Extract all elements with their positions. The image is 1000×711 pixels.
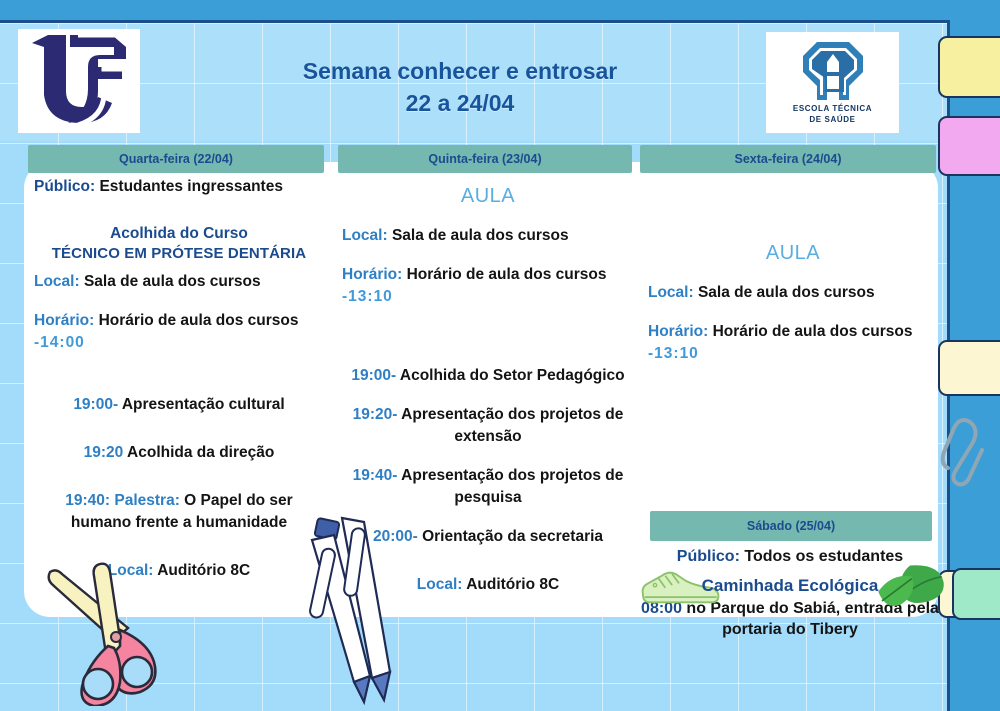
fri-horario: Horário: Horário de aula dos cursos -13:… xyxy=(648,321,938,365)
cream-tab[interactable] xyxy=(938,340,1000,396)
green-tab[interactable] xyxy=(952,568,1000,620)
wed-item-1-time: 19:20 xyxy=(84,444,124,461)
fri-local-value: Sala de aula dos cursos xyxy=(698,284,875,301)
wed-final-local: Local: Auditório 8C xyxy=(34,560,324,582)
wed-local-value: Sala de aula dos cursos xyxy=(84,273,261,290)
fri-local: Local: Sala de aula dos cursos xyxy=(648,282,938,304)
thu-final-local: Local: Auditório 8C xyxy=(342,574,634,596)
fri-horario-label: Horário: xyxy=(648,323,708,340)
poster-header: ESCOLA TÉCNICA DE SAÚDE Semana conhecer … xyxy=(0,20,947,140)
thu-item-0-text: Acolhida do Setor Pedagógico xyxy=(400,367,625,384)
thu-local-value: Sala de aula dos cursos xyxy=(392,227,569,244)
wed-item-1: 19:20 Acolhida da direção xyxy=(34,442,324,464)
thu-horario-value: Horário de aula dos cursos xyxy=(407,266,607,283)
wed-publico: Público: Estudantes ingressantes xyxy=(34,176,324,198)
sat-time: 08:00 xyxy=(641,600,682,617)
wed-final-local-value: Auditório 8C xyxy=(157,562,250,579)
thu-item-3-time: 20:00- xyxy=(373,528,418,545)
thu-item-1-text: Apresentação dos projetos de extensão xyxy=(401,406,623,445)
fri-aula: AULA xyxy=(648,242,938,265)
fri-horario-accent: -13:10 xyxy=(648,345,699,362)
thu-horario-label: Horário: xyxy=(342,266,402,283)
wed-item-0-time: 19:00- xyxy=(73,396,118,413)
ets-line2: DE SAÚDE xyxy=(809,115,855,124)
wed-item-2-time: 19:40: Palestra: xyxy=(65,492,180,509)
escola-tecnica-saude-logo: ESCOLA TÉCNICA DE SAÚDE xyxy=(766,32,899,133)
thu-item-0: 19:00- Acolhida do Setor Pedagógico xyxy=(342,365,634,387)
wed-final-local-label: Local: xyxy=(108,562,154,579)
wed-horario-value: Horário de aula dos cursos xyxy=(99,312,299,329)
sat-activity: Caminhada Ecológica xyxy=(640,576,940,596)
column-thursday: AULA Local: Sala de aula dos cursos Horá… xyxy=(342,176,634,596)
thu-item-1-time: 19:20- xyxy=(353,406,398,423)
poster-board: ESCOLA TÉCNICA DE SAÚDE Semana conhecer … xyxy=(0,0,1000,708)
column-saturday: Público: Todos os estudantes Caminhada E… xyxy=(640,548,940,640)
thu-final-local-value: Auditório 8C xyxy=(466,576,559,593)
sat-place-text: no Parque do Sabiá, entrada pela portari… xyxy=(686,600,939,638)
column-friday: AULA Local: Sala de aula dos cursos Horá… xyxy=(648,176,938,365)
thu-aula: AULA xyxy=(342,185,634,208)
thu-local-label: Local: xyxy=(342,227,388,244)
wed-item-2: 19:40: Palestra: O Papel do ser humano f… xyxy=(34,490,324,534)
sat-publico: Público: Todos os estudantes xyxy=(640,548,940,566)
pink-tab[interactable] xyxy=(938,116,1000,176)
sat-place: 08:00 no Parque do Sabiá, entrada pela p… xyxy=(640,598,940,640)
sat-publico-label: Público: xyxy=(677,548,740,565)
day-band-saturday: Sábado (25/04) xyxy=(650,511,932,541)
thu-final-local-label: Local: xyxy=(417,576,463,593)
thu-item-2-text: Apresentação dos projetos de pesquisa xyxy=(401,467,623,506)
column-wednesday: Público: Estudantes ingressantes Acolhid… xyxy=(34,176,324,582)
thu-item-1: 19:20- Apresentação dos projetos de exte… xyxy=(342,404,634,448)
wed-publico-label: Público: xyxy=(34,178,95,195)
wed-publico-value: Estudantes ingressantes xyxy=(99,178,282,195)
thu-horario: Horário: Horário de aula dos cursos -13:… xyxy=(342,264,634,308)
title-line-1: Semana conhecer e entrosar xyxy=(210,56,710,88)
wed-item-0-text: Apresentação cultural xyxy=(122,396,285,413)
poster-title: Semana conhecer e entrosar 22 a 24/04 xyxy=(210,56,710,119)
ets-logo-mark xyxy=(801,40,865,102)
wed-horario-label: Horário: xyxy=(34,312,94,329)
ets-line1: ESCOLA TÉCNICA xyxy=(793,104,872,113)
wed-item-1-text: Acolhida da direção xyxy=(127,444,274,461)
ufu-logo-mark xyxy=(26,33,132,129)
thu-item-3: 20:00- Orientação da secretaria xyxy=(342,526,634,548)
day-band-wednesday: Quarta-feira (22/04) xyxy=(28,145,324,173)
wed-local-label: Local: xyxy=(34,273,80,290)
wed-item-0: 19:00- Apresentação cultural xyxy=(34,394,324,416)
fri-local-label: Local: xyxy=(648,284,694,301)
day-band-friday: Sexta-feira (24/04) xyxy=(640,145,936,173)
thu-item-3-text: Orientação da secretaria xyxy=(422,528,603,545)
sat-publico-value: Todos os estudantes xyxy=(744,548,903,565)
thu-item-2-time: 19:40- xyxy=(353,467,398,484)
thu-item-2: 19:40- Apresentação dos projetos de pesq… xyxy=(342,465,634,509)
day-band-thursday: Quinta-feira (23/04) xyxy=(338,145,632,173)
title-line-2: 22 a 24/04 xyxy=(210,88,710,120)
wed-horario: Horário: Horário de aula dos cursos -14:… xyxy=(34,310,324,354)
fri-horario-value: Horário de aula dos cursos xyxy=(713,323,913,340)
wed-course-title: Acolhida do Curso xyxy=(34,224,324,245)
wed-local: Local: Sala de aula dos cursos xyxy=(34,271,324,293)
thu-local: Local: Sala de aula dos cursos xyxy=(342,225,634,247)
thu-item-0-time: 19:00- xyxy=(351,367,396,384)
wed-course-subtitle: TÉCNICO EM PRÓTESE DENTÁRIA xyxy=(34,245,324,262)
yellow-tab[interactable] xyxy=(938,36,1000,98)
thu-horario-accent: -13:10 xyxy=(342,288,393,305)
wed-horario-accent: -14:00 xyxy=(34,334,85,351)
ufu-logo xyxy=(18,29,140,133)
ets-logo-text: ESCOLA TÉCNICA DE SAÚDE xyxy=(793,104,872,125)
